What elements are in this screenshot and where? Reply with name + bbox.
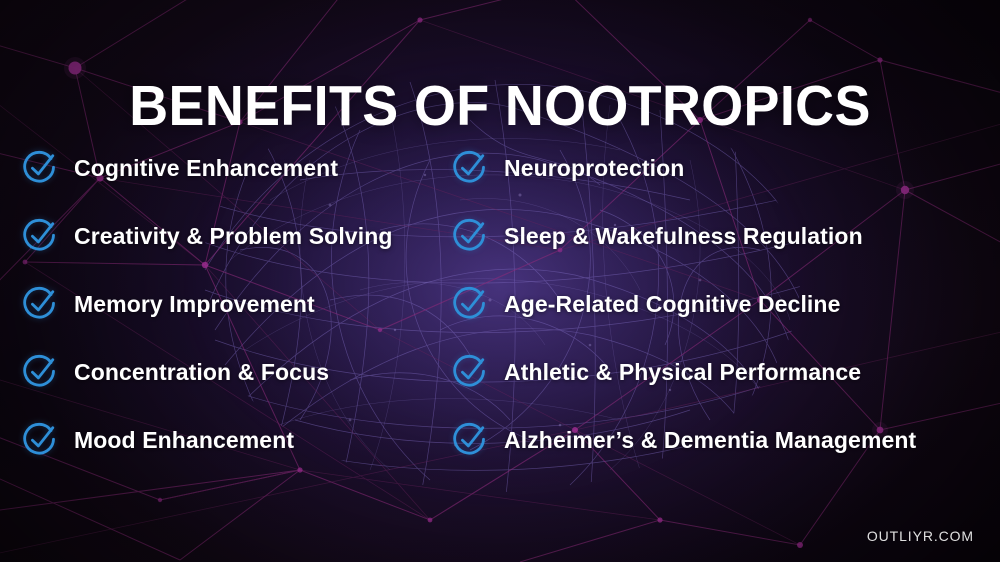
benefits-left-column: Cognitive Enhancement Creativity & Probl… xyxy=(22,134,452,474)
benefit-label: Memory Improvement xyxy=(74,291,315,318)
benefit-label: Concentration & Focus xyxy=(74,359,329,386)
benefit-item: Sleep & Wakefulness Regulation xyxy=(452,202,992,270)
check-circle-icon xyxy=(22,286,58,322)
benefits-right-column: Neuroprotection Sleep & Wakefulness Regu… xyxy=(452,134,992,474)
check-circle-icon xyxy=(452,354,488,390)
watermark-branding: OUTLIYR.COM xyxy=(867,528,974,544)
benefit-label: Age-Related Cognitive Decline xyxy=(504,291,840,318)
benefit-label: Sleep & Wakefulness Regulation xyxy=(504,223,863,250)
check-circle-icon xyxy=(22,150,58,186)
benefit-item: Alzheimer’s & Dementia Management xyxy=(452,406,992,474)
benefit-item: Cognitive Enhancement xyxy=(22,134,452,202)
benefit-item: Memory Improvement xyxy=(22,270,452,338)
benefit-item: Athletic & Physical Performance xyxy=(452,338,992,406)
benefit-item: Concentration & Focus xyxy=(22,338,452,406)
benefit-item: Age-Related Cognitive Decline xyxy=(452,270,992,338)
check-circle-icon xyxy=(452,286,488,322)
check-circle-icon xyxy=(22,422,58,458)
benefit-item: Mood Enhancement xyxy=(22,406,452,474)
benefit-label: Neuroprotection xyxy=(504,155,684,182)
benefit-label: Athletic & Physical Performance xyxy=(504,359,861,386)
check-circle-icon xyxy=(22,354,58,390)
benefit-item: Neuroprotection xyxy=(452,134,992,202)
benefit-label: Creativity & Problem Solving xyxy=(74,223,393,250)
benefit-item: Creativity & Problem Solving xyxy=(22,202,452,270)
check-circle-icon xyxy=(452,150,488,186)
benefit-label: Cognitive Enhancement xyxy=(74,155,338,182)
page-title: BENEFITS OF NOOTROPICS xyxy=(28,76,973,136)
check-circle-icon xyxy=(452,422,488,458)
infographic-poster: BENEFITS OF NOOTROPICS Cognitive Enhance… xyxy=(0,0,1000,562)
benefit-label: Alzheimer’s & Dementia Management xyxy=(504,427,916,454)
check-circle-icon xyxy=(452,218,488,254)
check-circle-icon xyxy=(22,218,58,254)
benefit-label: Mood Enhancement xyxy=(74,427,294,454)
